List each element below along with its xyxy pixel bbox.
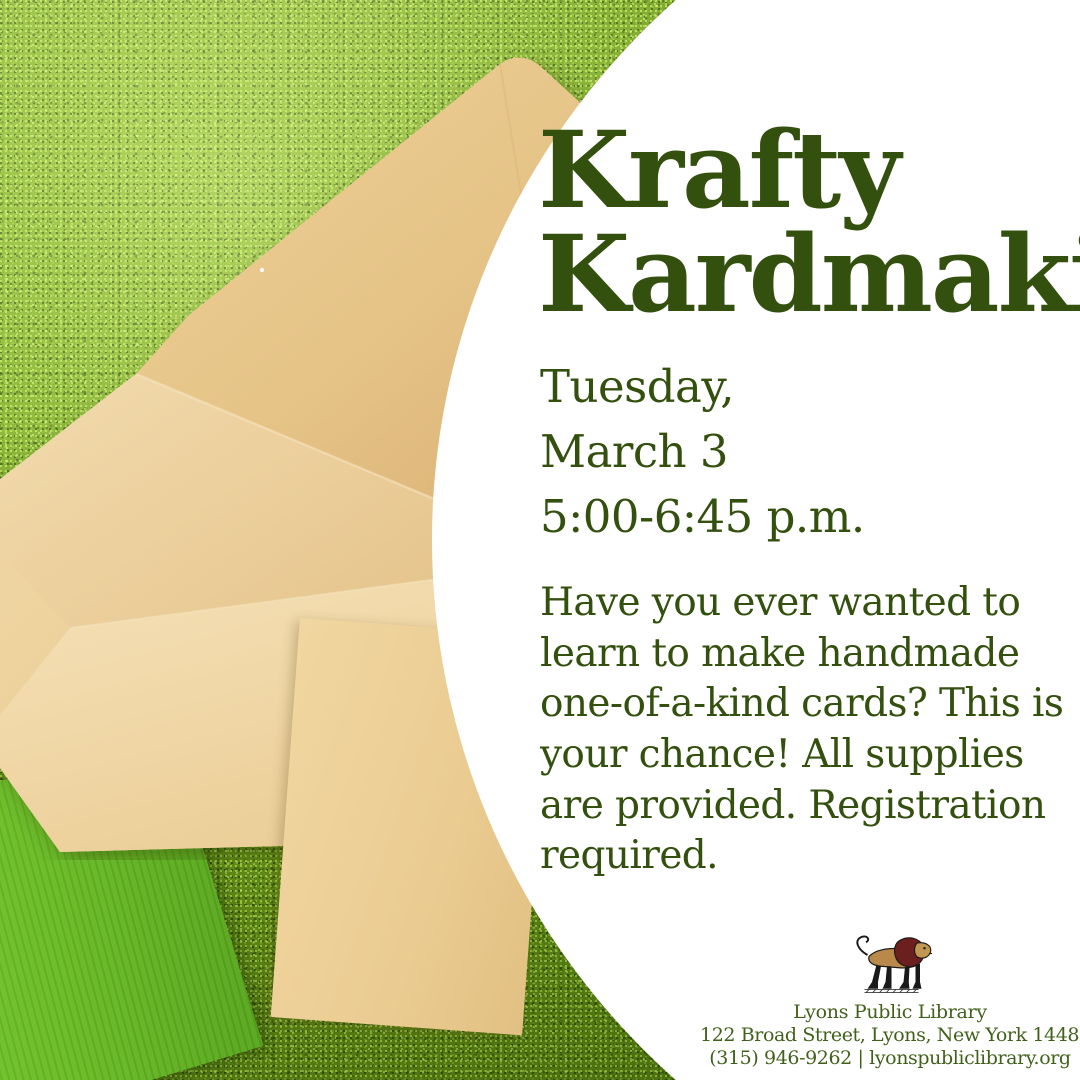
lion-leg-hind-left — [899, 967, 910, 989]
footer: Lyons Public Library 122 Broad Street, L… — [700, 925, 1080, 1069]
lion-icon — [844, 925, 936, 997]
lion-leg-front-left — [868, 965, 882, 989]
page-title: Krafty Kardmaking — [538, 118, 1080, 326]
description-line-6: required. — [540, 831, 1052, 882]
title-line-1: Krafty — [538, 118, 1080, 222]
library-contact: (315) 946-9262 | lyonspubliclibrary.org — [700, 1047, 1080, 1069]
lion-leg-hind-right — [913, 964, 922, 989]
event-time: 5:00-6:45 p.m. — [540, 485, 1060, 550]
event-date: March 3 — [540, 420, 1060, 485]
description-line-5: are provided. Registration — [540, 781, 1052, 832]
description-line-4: your chance! All supplies — [540, 730, 1052, 781]
title-line-2: Kardmaking — [538, 222, 1080, 326]
description-line-2: learn to make handmade — [540, 629, 1052, 680]
lion-leg-front-right — [883, 966, 892, 989]
poster-canvas: Krafty Kardmaking Tuesday, March 3 5:00-… — [0, 0, 1080, 1080]
library-address: 122 Broad Street, Lyons, New York 14489 — [700, 1024, 1080, 1046]
library-name: Lyons Public Library — [700, 1001, 1080, 1023]
description-line-3: one-of-a-kind cards? This is — [540, 679, 1052, 730]
event-day: Tuesday, — [540, 355, 1060, 420]
event-datetime: Tuesday, March 3 5:00-6:45 p.m. — [540, 355, 1060, 549]
lion-tail — [857, 936, 868, 955]
lion-head — [915, 943, 931, 958]
lion-ground-hatch — [865, 990, 919, 993]
description-line-1: Have you ever wanted to — [540, 578, 1052, 629]
envelope-highlight-dot — [260, 268, 264, 272]
event-description: Have you ever wanted to learn to make ha… — [540, 578, 1052, 882]
lion-eye — [923, 947, 925, 949]
content-column: Krafty Kardmaking Tuesday, March 3 5:00-… — [538, 0, 1080, 1080]
